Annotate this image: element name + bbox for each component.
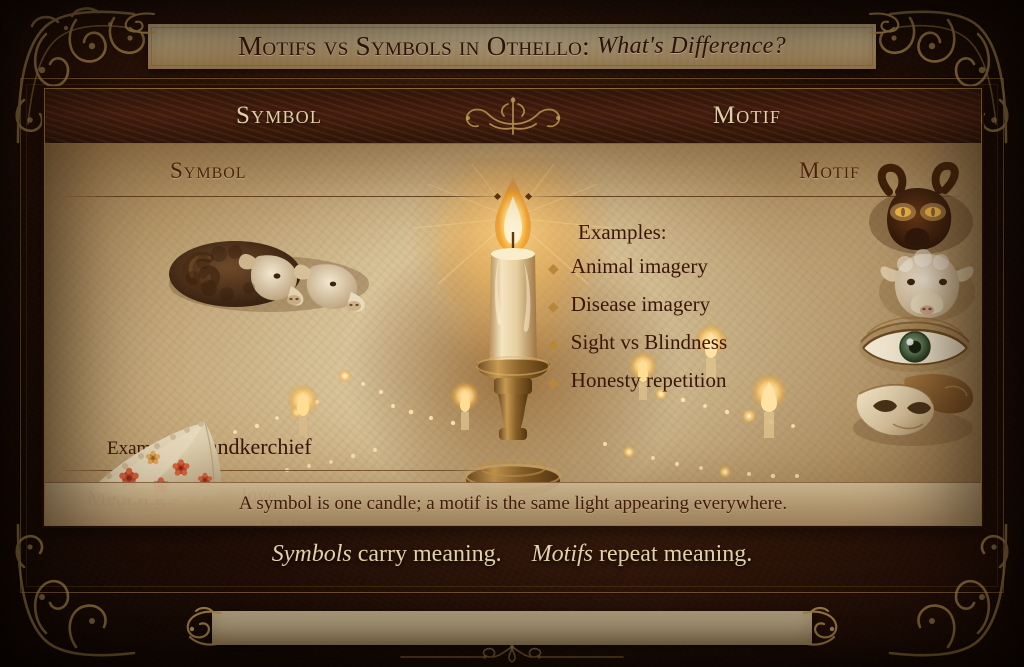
column-header-band: Symbol Motif bbox=[45, 89, 981, 144]
motif-examples-label: Examples: bbox=[578, 220, 667, 245]
content-parchment: Symbol bbox=[45, 144, 981, 525]
footer-tagline: Symbols carry meaning. Motifs repeat mea… bbox=[0, 534, 1024, 574]
main-panel: Symbol Motif bbox=[44, 88, 982, 526]
caption-text: A symbol is one candle; a motif is the s… bbox=[239, 493, 787, 515]
motif-column: Motif Examples: ◆Animal imagery ◆Disease… bbox=[513, 144, 981, 525]
page-title: Motifs vs Symbols in Othello: What's Dif… bbox=[148, 24, 876, 69]
diamond-bullet-icon: ◆ bbox=[548, 376, 559, 391]
tagline-symbols: Symbols carry meaning. bbox=[272, 541, 502, 568]
tagline-symbols-rest: carry meaning. bbox=[358, 541, 502, 567]
fleuron-divider-icon bbox=[397, 643, 627, 665]
band-motif-label: Motif bbox=[713, 102, 781, 130]
page-title-main: Motifs vs Symbols in Othello: bbox=[238, 31, 590, 62]
scroll-end-icon bbox=[182, 605, 222, 651]
scroll-end-icon bbox=[122, 10, 156, 36]
caption-strip: A symbol is one candle; a motif is the s… bbox=[45, 482, 981, 525]
symbol-heading-rule bbox=[65, 196, 497, 197]
tagline-motifs-rest: repeat meaning. bbox=[599, 541, 752, 567]
motif-column-heading: Motif bbox=[799, 158, 860, 184]
list-item-label: Disease imagery bbox=[571, 292, 710, 316]
list-item-label: Honesty repetition bbox=[571, 368, 727, 392]
list-item: ◆Sight vs Blindness bbox=[548, 330, 727, 355]
title-banner: Motifs vs Symbols in Othello: What's Dif… bbox=[148, 24, 876, 69]
diamond-bullet-icon: ◆ bbox=[548, 300, 559, 315]
motif-examples-list: ◆Animal imagery ◆Disease imagery ◆Sight … bbox=[548, 254, 727, 406]
tagline-motifs: Motifs repeat meaning. bbox=[532, 541, 753, 568]
fleuron-divider-icon bbox=[438, 94, 588, 138]
page-title-subtitle: What's Difference? bbox=[597, 33, 786, 60]
list-item: ◆Animal imagery bbox=[548, 254, 727, 279]
diamond-bullet-icon: ◆ bbox=[548, 338, 559, 353]
list-item: ◆Honesty repetition bbox=[548, 368, 727, 393]
tagline-symbols-emphasis: Symbols bbox=[272, 541, 352, 567]
list-item-label: Sight vs Blindness bbox=[571, 330, 727, 354]
list-item-label: Animal imagery bbox=[571, 254, 708, 278]
tagline-motifs-emphasis: Motifs bbox=[532, 541, 593, 567]
poster-root: Motifs vs Symbols in Othello: What's Dif… bbox=[0, 0, 1024, 667]
symbol-column-heading: Symbol bbox=[170, 158, 247, 184]
scroll-end-icon bbox=[868, 10, 902, 36]
diamond-bullet-icon: ◆ bbox=[548, 262, 559, 277]
symbol-column: Symbol bbox=[45, 144, 513, 525]
mask-illustration bbox=[849, 366, 977, 450]
scroll-end-icon bbox=[802, 605, 842, 651]
rams-illustration bbox=[163, 222, 375, 314]
bottom-scroll-banner bbox=[212, 611, 812, 645]
band-symbol-label: Symbol bbox=[236, 102, 322, 130]
list-item: ◆Disease imagery bbox=[548, 292, 727, 317]
